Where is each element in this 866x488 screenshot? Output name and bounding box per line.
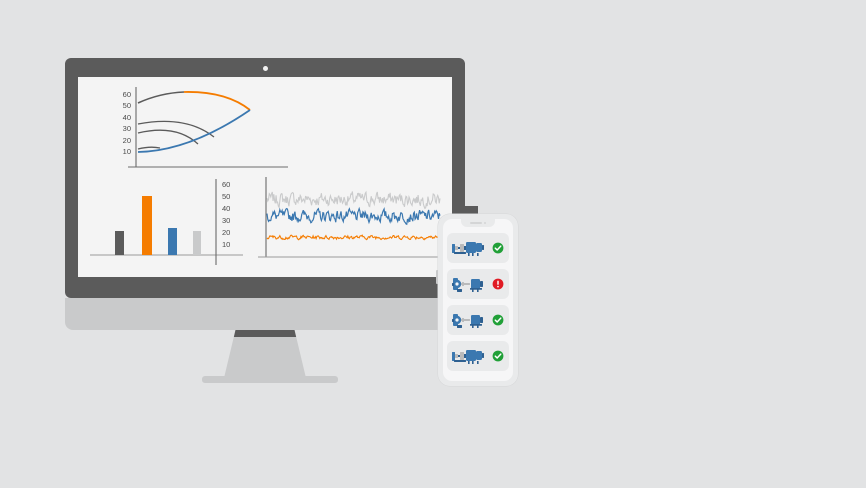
bar-chart-bar-3 xyxy=(168,228,177,255)
arc-chart-ytick-40: 40 xyxy=(123,113,131,122)
illustration-scene: 60 50 40 30 20 10 xyxy=(0,0,866,488)
check-circle-icon[interactable] xyxy=(492,350,504,362)
bar-chart-ytick-40: 40 xyxy=(222,204,230,213)
timeseries-series-orange xyxy=(267,235,440,240)
phone-notch xyxy=(461,219,495,227)
arc-chart-upper-envelope-orange xyxy=(184,92,250,110)
phone-side-button[interactable] xyxy=(436,270,438,284)
bar-chart-bar-4 xyxy=(193,231,201,255)
arc-chart-ytick-20: 20 xyxy=(123,136,131,145)
arc-chart-base-arc-gray xyxy=(138,147,160,149)
equipment-list-item[interactable] xyxy=(447,341,509,371)
desktop-monitor: 60 50 40 30 20 10 xyxy=(65,58,465,298)
arc-chart-ytick-30: 30 xyxy=(123,124,131,133)
smartphone xyxy=(438,214,518,386)
pump-motor-pair-icon xyxy=(451,310,487,330)
motor-pump-assembly-icon xyxy=(451,346,487,366)
arc-chart: 60 50 40 30 20 10 xyxy=(98,83,298,183)
arc-chart-ytick-50: 50 xyxy=(123,101,131,110)
bar-chart-ytick-60: 60 xyxy=(222,180,230,189)
equipment-list-item[interactable] xyxy=(447,305,509,335)
webcam-dot-icon xyxy=(263,66,268,71)
bar-chart-ytick-10: 10 xyxy=(222,240,230,249)
alert-circle-icon[interactable] xyxy=(492,278,504,290)
front-camera-dot-icon xyxy=(484,222,486,224)
bar-chart-ytick-30: 30 xyxy=(222,216,230,225)
monitor-screen: 60 50 40 30 20 10 xyxy=(78,77,452,277)
bar-chart-ytick-50: 50 xyxy=(222,192,230,201)
arc-chart-ytick-10: 10 xyxy=(123,147,131,156)
check-circle-icon[interactable] xyxy=(492,242,504,254)
timeseries-series-gray xyxy=(267,191,440,208)
phone-screen xyxy=(443,219,513,381)
motor-pump-assembly-icon xyxy=(451,238,487,258)
monitor-chin xyxy=(65,298,465,330)
timeseries-series-blue xyxy=(267,209,440,225)
arc-chart-upper-envelope-gray xyxy=(138,92,184,103)
bar-chart-bar-1 xyxy=(115,231,124,255)
pump-motor-pair-icon xyxy=(451,274,487,294)
monitor-stand-shadow xyxy=(224,330,306,337)
bar-chart-ytick-20: 20 xyxy=(222,228,230,237)
equipment-status-list xyxy=(447,233,509,371)
equipment-list-item[interactable] xyxy=(447,233,509,263)
equipment-list-item[interactable] xyxy=(447,269,509,299)
bar-chart: 60 50 40 30 20 10 xyxy=(88,177,248,269)
bar-chart-bar-2 xyxy=(142,196,152,255)
arc-chart-ytick-60: 60 xyxy=(123,90,131,99)
speaker-slot-icon xyxy=(470,222,482,224)
monitor-stand-base xyxy=(202,376,338,383)
arc-chart-mid-arc-upper-gray xyxy=(138,121,214,137)
monitor-stand-neck xyxy=(224,330,306,378)
check-circle-icon[interactable] xyxy=(492,314,504,326)
timeseries-chart xyxy=(256,173,446,269)
